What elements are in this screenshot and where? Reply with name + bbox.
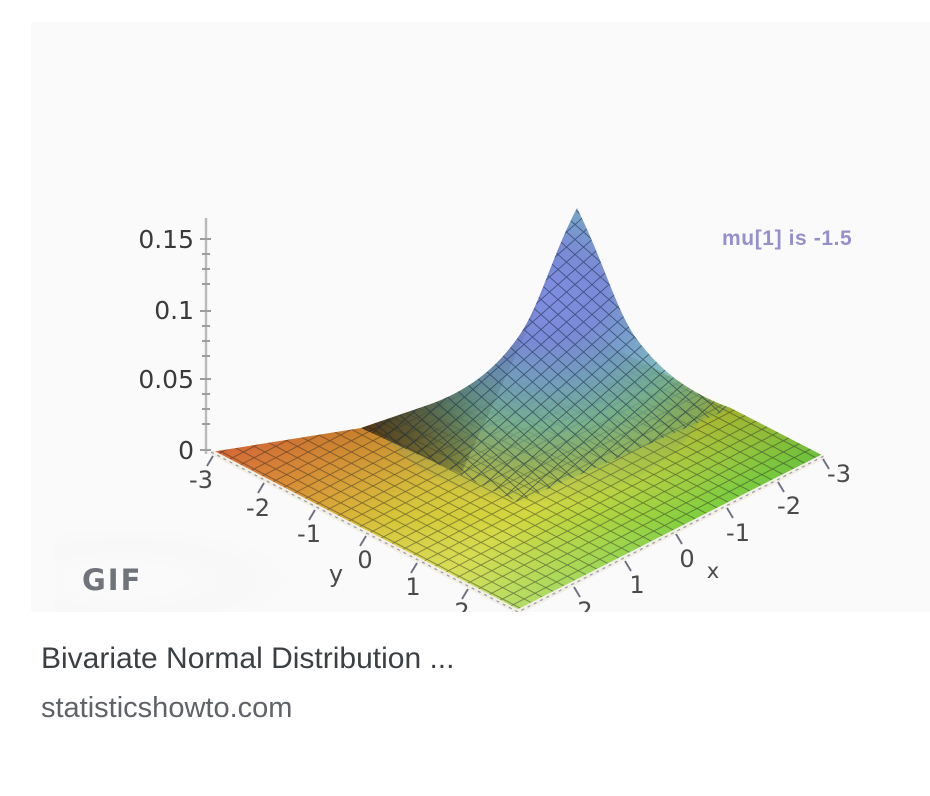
bivariate-normal-surface-plot: 0.15 0.1 0.05 0 [31,22,930,612]
y-tick-label: 0 [357,546,372,574]
z-tick-label: 0.15 [138,225,194,254]
z-tick-label: 0 [178,436,194,465]
y-tick-label: -2 [246,494,270,522]
x-tick-label: -3 [827,460,851,488]
surface-plot-svg: 0.15 0.1 0.05 0 [31,22,930,612]
x-tick-label: -1 [726,519,750,547]
z-tick-label: 0.1 [154,296,194,325]
image-search-result-card[interactable]: mu[x,y] is changing [0,0,930,796]
x-tick-label: -2 [777,492,801,520]
mu-parameter-annotation: mu[1] is -1.5 [722,227,852,251]
result-source-domain[interactable]: statisticshowto.com [41,690,901,727]
x-tick-label: 1 [629,571,644,599]
x-tick-label: 0 [679,545,694,573]
y-tick-label: 2 [454,598,469,612]
y-tick-label: 1 [405,573,420,601]
x-axis-title: x [707,559,719,583]
result-caption: Bivariate Normal Distribution ... statis… [41,640,901,728]
result-title[interactable]: Bivariate Normal Distribution ... [41,640,901,678]
y-tick-label: -3 [189,466,213,494]
gif-badge-label: GIF [82,563,142,597]
z-tick-label: 0.05 [138,365,194,394]
x-tick-label: 2 [577,597,592,612]
gif-badge-container: GIF [55,525,315,612]
result-thumbnail-panel[interactable]: mu[x,y] is changing [31,22,930,612]
y-axis-title: y [329,560,343,588]
